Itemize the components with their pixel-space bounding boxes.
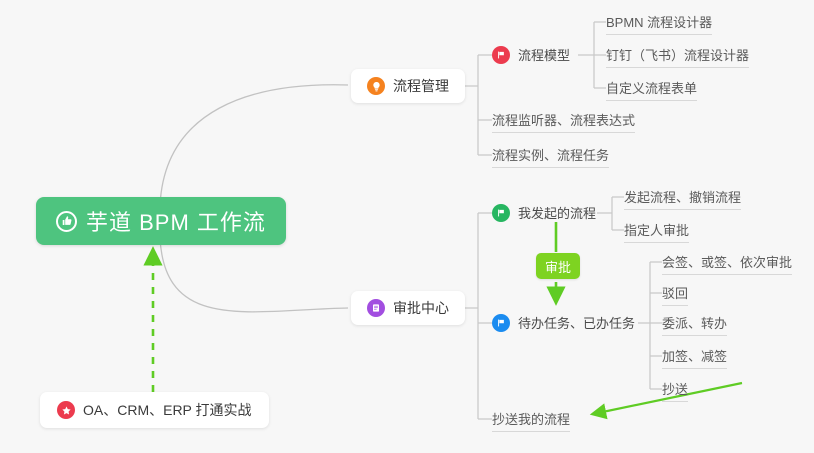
leaf-add-remove-sign[interactable]: 加签、减签	[662, 346, 727, 369]
node-process-model-label: 流程模型	[518, 45, 570, 64]
flag-icon	[492, 314, 510, 332]
leaf-start-cancel-process-label: 发起流程、撤销流程	[624, 187, 741, 206]
leaf-cc-to-me-process-label: 抄送我的流程	[492, 409, 570, 428]
leaf-custom-process-form[interactable]: 自定义流程表单	[606, 78, 697, 101]
leaf-multi-approval[interactable]: 会签、或签、依次审批	[662, 252, 792, 275]
leaf-custom-process-form-label: 自定义流程表单	[606, 78, 697, 97]
leaf-cc[interactable]: 抄送	[662, 379, 688, 402]
node-process-model[interactable]: 流程模型	[492, 45, 570, 64]
star-icon	[57, 401, 75, 419]
leaf-bpmn-designer[interactable]: BPMN 流程设计器	[606, 12, 712, 35]
node-my-initiated-process[interactable]: 我发起的流程	[492, 203, 596, 222]
leaf-reject[interactable]: 驳回	[662, 283, 688, 306]
leaf-cc-to-me-process[interactable]: 抄送我的流程	[492, 409, 570, 432]
lightbulb-icon	[367, 77, 385, 95]
leaf-process-instance-task-label: 流程实例、流程任务	[492, 145, 609, 164]
node-todo-done-task-label: 待办任务、已办任务	[518, 313, 635, 332]
mindmap-canvas: 芋道 BPM 工作流 流程管理 流程模型 BPMN 流程设计器 钉钉（飞书）流程…	[0, 0, 814, 453]
leaf-start-cancel-process[interactable]: 发起流程、撤销流程	[624, 187, 741, 210]
node-todo-done-task[interactable]: 待办任务、已办任务	[492, 313, 635, 332]
flag-icon	[492, 204, 510, 222]
node-my-initiated-process-label: 我发起的流程	[518, 203, 596, 222]
root-label: 芋道 BPM 工作流	[86, 205, 266, 237]
leaf-assignee-approval[interactable]: 指定人审批	[624, 220, 689, 243]
leaf-process-listener-expression-label: 流程监听器、流程表达式	[492, 110, 635, 129]
leaf-assignee-approval-label: 指定人审批	[624, 220, 689, 239]
branch-approval-center-label: 审批中心	[393, 298, 449, 318]
flag-icon	[492, 46, 510, 64]
root-node[interactable]: 芋道 BPM 工作流	[36, 197, 286, 245]
leaf-multi-approval-label: 会签、或签、依次审批	[662, 252, 792, 271]
branch-process-management-label: 流程管理	[393, 76, 449, 96]
leaf-delegate-transfer[interactable]: 委派、转办	[662, 313, 727, 336]
node-integration-practice[interactable]: OA、CRM、ERP 打通实战	[40, 392, 269, 428]
leaf-cc-label: 抄送	[662, 379, 688, 398]
tag-approval[interactable]: 审批	[536, 253, 580, 279]
leaf-add-remove-sign-label: 加签、减签	[662, 346, 727, 365]
thumbs-up-icon	[56, 211, 77, 232]
leaf-reject-label: 驳回	[662, 283, 688, 302]
branch-approval-center[interactable]: 审批中心	[351, 291, 465, 325]
leaf-bpmn-designer-label: BPMN 流程设计器	[606, 12, 712, 31]
document-icon	[367, 299, 385, 317]
leaf-process-listener-expression[interactable]: 流程监听器、流程表达式	[492, 110, 635, 133]
leaf-dingtalk-feishu-designer[interactable]: 钉钉（飞书）流程设计器	[606, 45, 749, 68]
branch-process-management[interactable]: 流程管理	[351, 69, 465, 103]
tag-approval-label: 审批	[545, 257, 571, 276]
node-integration-practice-label: OA、CRM、ERP 打通实战	[83, 400, 252, 420]
leaf-process-instance-task[interactable]: 流程实例、流程任务	[492, 145, 609, 168]
leaf-delegate-transfer-label: 委派、转办	[662, 313, 727, 332]
leaf-dingtalk-feishu-designer-label: 钉钉（飞书）流程设计器	[606, 45, 749, 64]
